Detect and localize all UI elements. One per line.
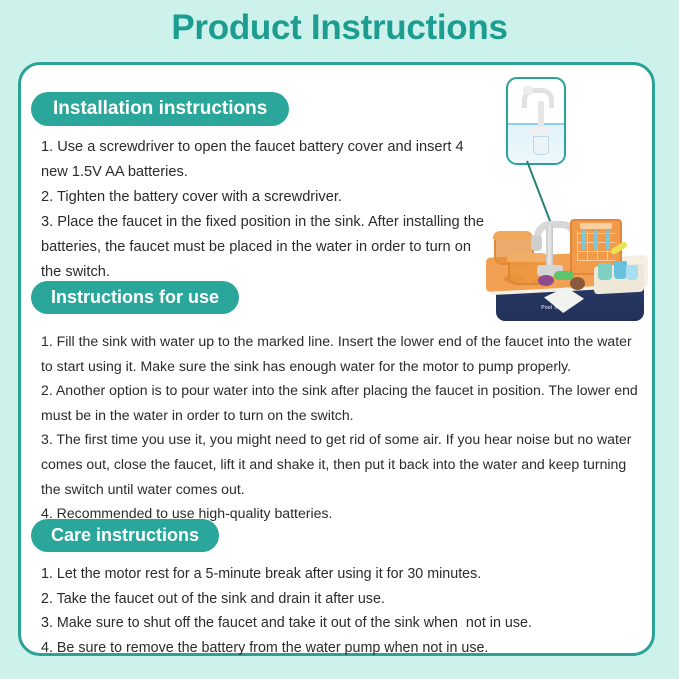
section-body-installation: 1. Use a screwdriver to open the faucet … [41,135,486,285]
section-body-care: 1. Let the motor rest for a 5-minute bre… [41,562,626,660]
section-heading-use: Instructions for use [31,281,239,314]
page-title: Product Instructions [0,8,679,48]
callout-faucet-head-icon [523,86,533,95]
product-instructions-page: Product Instructions Installation instru… [0,0,679,679]
faucet-sprayer-head [531,235,542,251]
section-heading-care: Care instructions [31,519,219,552]
instructions-card: Installation instructions 1. Use a screw… [18,62,655,656]
utensil-icon [582,230,586,250]
utensil-icon [606,230,610,250]
product-illustration: Pool Toys [466,77,651,327]
toy-cup [626,265,638,280]
pot-lid [507,253,549,262]
pot-lid [493,231,533,240]
section-heading-installation: Installation instructions [31,92,289,126]
section-body-use: 1. Fill the sink with water up to the ma… [41,329,641,526]
brand-logo: Pool Toys [536,303,570,314]
callout-water-line [508,123,564,125]
faucet-neck [546,225,553,267]
utensil-icon [594,230,598,250]
toy-food-item [538,275,554,286]
faucet-submerged-callout [506,77,566,165]
toy-food-item [570,277,585,290]
toy-cup [598,263,612,280]
rack-header [580,223,612,229]
callout-faucet-filter-icon [533,136,549,155]
toy-sink-set: Pool Toys [474,219,652,327]
